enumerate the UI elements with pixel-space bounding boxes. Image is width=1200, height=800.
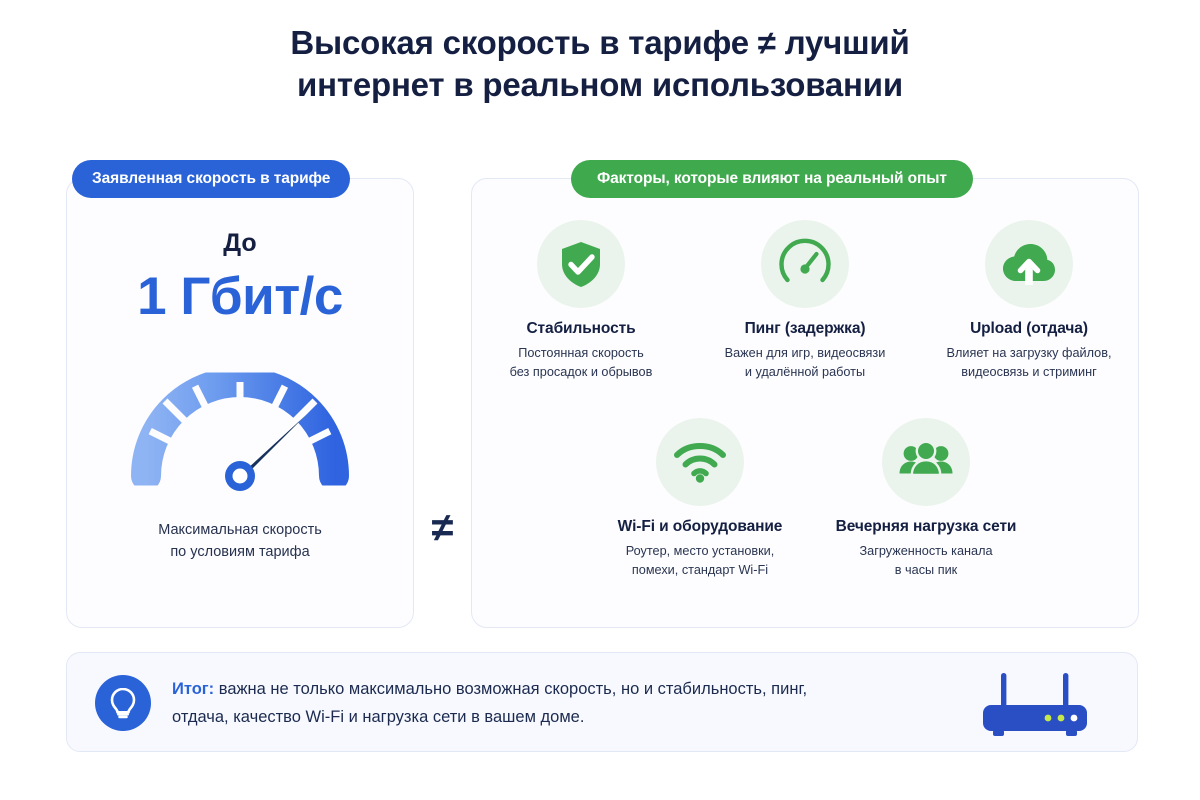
factor-stability: Стабильность Постоянная скорость без про… bbox=[480, 220, 682, 383]
shield-check-icon bbox=[537, 220, 625, 308]
lightbulb-icon bbox=[95, 675, 151, 731]
factor-desc-line-1: Влияет на загрузку файлов, bbox=[947, 344, 1112, 363]
factor-title: Wi-Fi и оборудование bbox=[618, 518, 783, 536]
tariff-caption: Максимальная скорость по условиям тарифа bbox=[66, 519, 414, 564]
factor-title: Вечерняя нагрузка сети bbox=[836, 518, 1017, 536]
summary-text: Итог: важна не только максимально возмож… bbox=[172, 675, 972, 732]
page-title: Высокая скорость в тарифе ≠ лучший интер… bbox=[0, 22, 1200, 106]
router-icon bbox=[975, 667, 1095, 741]
factor-desc-line-2: видеосвязь и стриминг bbox=[947, 363, 1112, 382]
factor-description: Роутер, место установки, помехи, стандар… bbox=[626, 542, 775, 581]
factor-ping: Пинг (задержка) Важен для игр, видеосвяз… bbox=[704, 220, 906, 383]
tariff-caption-line-1: Максимальная скорость bbox=[66, 519, 414, 541]
factor-title: Upload (отдача) bbox=[970, 320, 1088, 338]
factor-description: Влияет на загрузку файлов, видеосвязь и … bbox=[947, 344, 1112, 383]
factor-description: Важен для игр, видеосвязи и удалённой ра… bbox=[725, 344, 886, 383]
declared-speed-badge: Заявленная скорость в тарифе bbox=[72, 160, 350, 198]
factor-description: Постоянная скорость без просадок и обрыв… bbox=[510, 344, 653, 383]
summary-text-line-2: отдача, качество Wi-Fi и нагрузка сети в… bbox=[172, 708, 584, 726]
not-equal-symbol: ≠ bbox=[414, 508, 471, 548]
people-group-icon bbox=[882, 418, 970, 506]
cloud-upload-icon bbox=[985, 220, 1073, 308]
factor-evening-load: Вечерняя нагрузка сети Загруженность кан… bbox=[825, 418, 1027, 581]
factor-description: Загруженность канала в часы пик bbox=[859, 542, 992, 581]
gauge-needle bbox=[225, 415, 306, 491]
factor-wifi: Wi-Fi и оборудование Роутер, место устан… bbox=[599, 418, 801, 581]
tariff-prefix-label: До bbox=[66, 229, 414, 258]
factor-desc-line-2: и удалённой работы bbox=[725, 363, 886, 382]
factor-desc-line-1: Важен для игр, видеосвязи bbox=[725, 344, 886, 363]
gauge-svg bbox=[120, 356, 360, 496]
summary-lead-label: Итог: bbox=[172, 680, 214, 698]
summary-text-line-1: важна не только максимально возможная ск… bbox=[214, 680, 807, 698]
factor-title: Пинг (задержка) bbox=[745, 320, 866, 338]
factor-desc-line-1: Роутер, место установки, bbox=[626, 542, 775, 561]
factor-desc-line-1: Постоянная скорость bbox=[510, 344, 653, 363]
factor-upload: Upload (отдача) Влияет на загрузку файло… bbox=[928, 220, 1130, 383]
tariff-caption-line-2: по условиям тарифа bbox=[66, 541, 414, 563]
factors-row-bottom: Wi-Fi и оборудование Роутер, место устан… bbox=[471, 418, 1139, 581]
speed-gauge bbox=[66, 356, 414, 506]
factor-desc-line-2: без просадок и обрывов bbox=[510, 363, 653, 382]
factor-desc-line-2: помехи, стандарт Wi-Fi bbox=[626, 561, 775, 580]
factor-title: Стабильность bbox=[526, 320, 635, 338]
wifi-icon bbox=[656, 418, 744, 506]
factor-desc-line-2: в часы пик bbox=[859, 561, 992, 580]
real-factors-badge: Факторы, которые влияют на реальный опыт bbox=[571, 160, 973, 198]
summary-bar: Итог: важна не только максимально возмож… bbox=[66, 652, 1138, 752]
tariff-speed-value: 1 Гбит/с bbox=[66, 266, 414, 327]
factor-desc-line-1: Загруженность канала bbox=[859, 542, 992, 561]
panels-container: До 1 Гбит/с bbox=[0, 178, 1200, 630]
page-title-line-1: Высокая скорость в тарифе ≠ лучший bbox=[0, 22, 1200, 64]
factors-row-top: Стабильность Постоянная скорость без про… bbox=[471, 220, 1139, 383]
page-title-line-2: интернет в реальном использовании bbox=[0, 64, 1200, 106]
speedometer-icon bbox=[761, 220, 849, 308]
